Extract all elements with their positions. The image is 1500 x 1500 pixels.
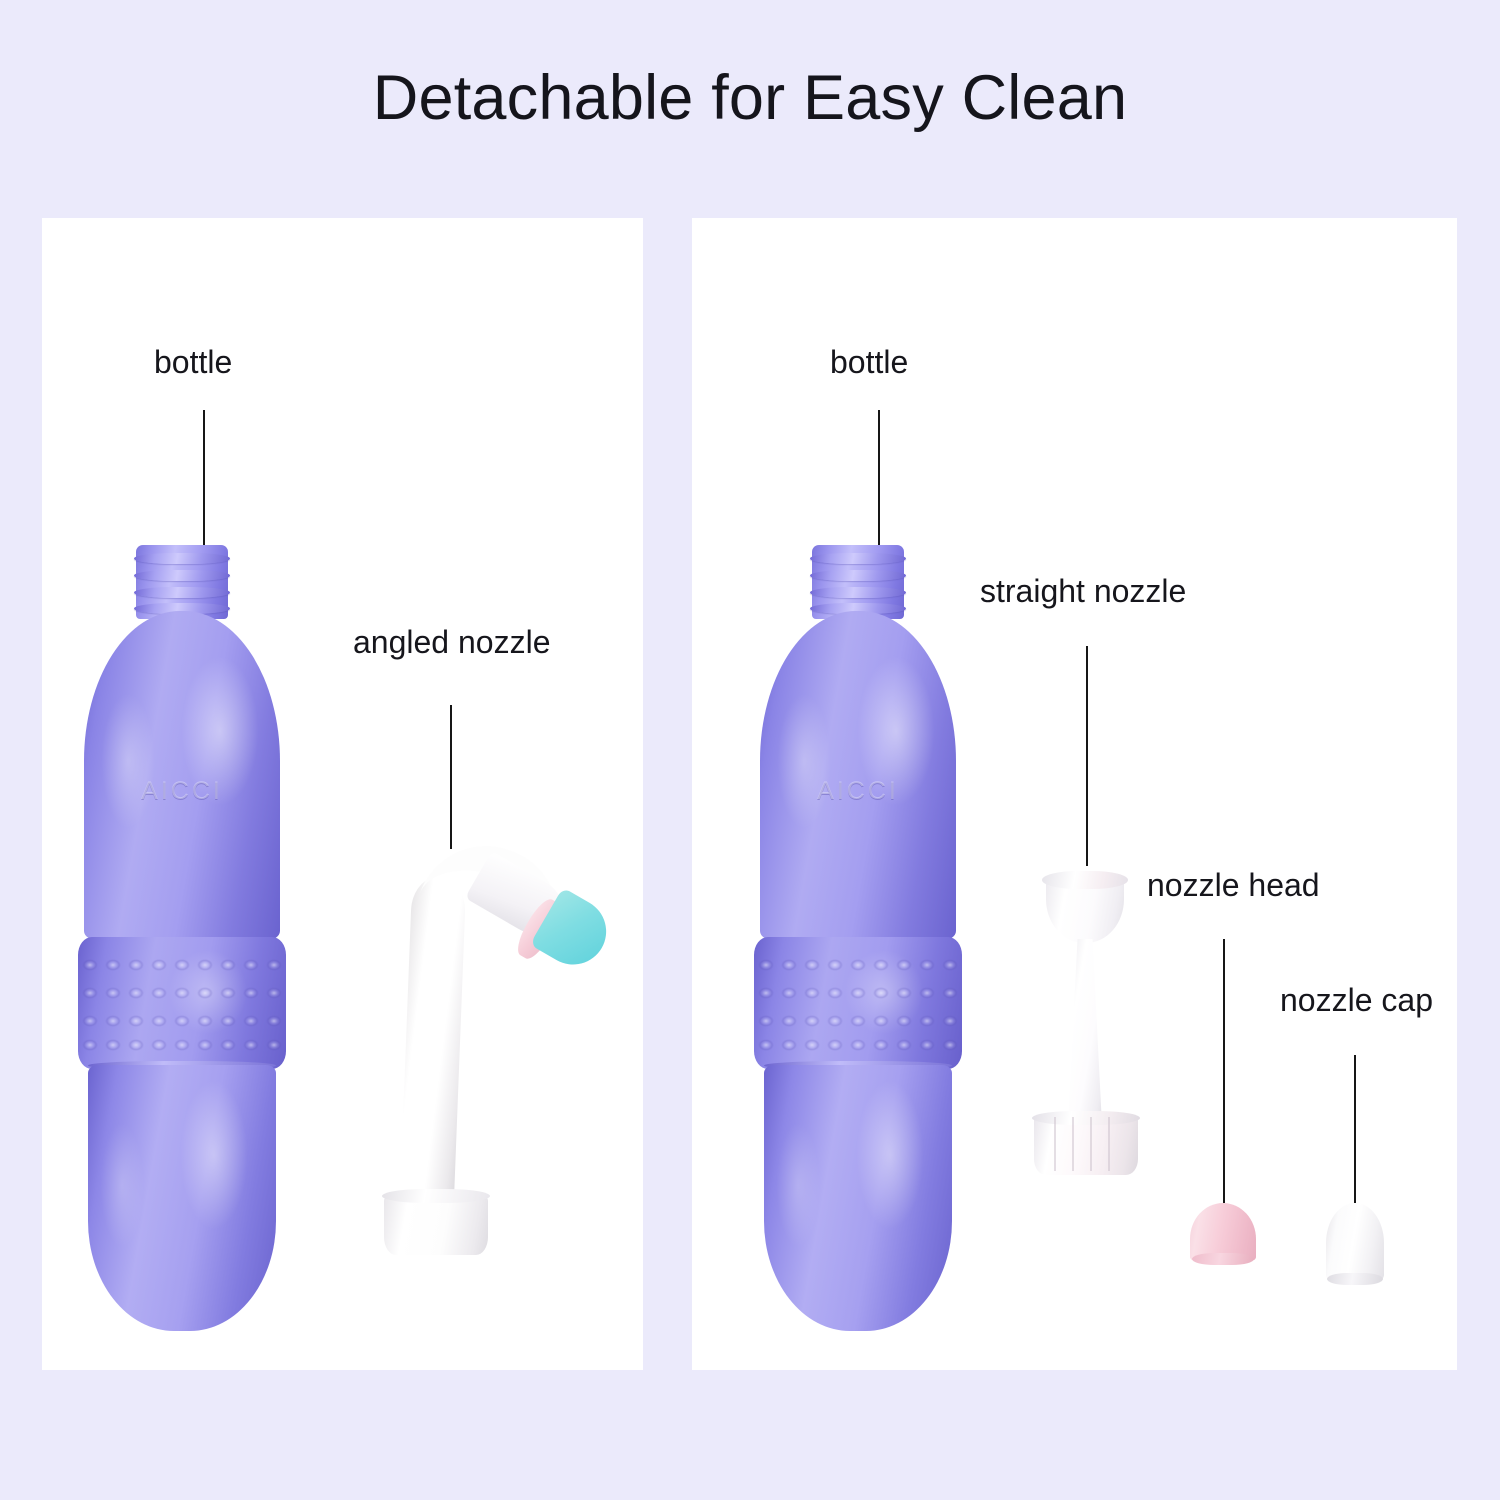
leader-line-bottle-right (878, 410, 880, 562)
straight-nozzle-rib (1108, 1117, 1110, 1171)
bottle-thread-3 (134, 587, 230, 598)
label-angled-nozzle: angled nozzle (353, 626, 550, 658)
nozzle-head-foot (1192, 1253, 1254, 1265)
bottle-shoulder (84, 611, 280, 941)
straight-nozzle-rib (1054, 1117, 1056, 1171)
straight-nozzle (1032, 865, 1142, 1185)
angled-nozzle-collar-lip (382, 1189, 490, 1203)
bottle-left: AICCI (84, 545, 280, 1331)
grip-dot-row (82, 957, 282, 974)
bottle-shoulder (760, 611, 956, 941)
label-straight-nozzle: straight nozzle (980, 575, 1186, 607)
leader-line-straight-nozzle (1086, 646, 1088, 866)
nozzle-cap-dome (1326, 1203, 1384, 1281)
label-bottle-left: bottle (154, 346, 232, 378)
straight-nozzle-base-rim (1032, 1111, 1140, 1125)
bottle-grip-band (754, 937, 962, 1069)
straight-nozzle-stem (1068, 939, 1102, 1125)
page-title: Detachable for Easy Clean (0, 64, 1500, 133)
bottle-base (764, 1065, 952, 1331)
grip-dot-row (82, 985, 282, 1002)
straight-nozzle-cup-rim (1042, 871, 1128, 889)
left-product-panel: bottle angled nozzle AICCI (42, 218, 643, 1370)
nozzle-cap-foot (1327, 1273, 1383, 1285)
leader-line-nozzle-head (1223, 939, 1225, 1203)
grip-dot-row (758, 1037, 958, 1054)
grip-dot-row (82, 1037, 282, 1054)
bottle-grip-band (78, 937, 286, 1069)
nozzle-cap (1326, 1203, 1384, 1287)
label-nozzle-head: nozzle head (1147, 869, 1320, 901)
bottle-thread-2 (810, 570, 906, 581)
right-product-panel: bottle straight nozzle nozzle head nozzl… (692, 218, 1457, 1370)
straight-nozzle-rib (1090, 1117, 1092, 1171)
bottle-thread-1 (810, 553, 906, 564)
grip-dot-row (758, 957, 958, 974)
straight-nozzle-rib (1072, 1117, 1074, 1171)
bottle-thread-3 (810, 587, 906, 598)
bottle-right: AICCI (760, 545, 956, 1331)
leader-line-bottle-left (203, 410, 205, 562)
label-bottle-right: bottle (830, 346, 908, 378)
grip-dot-row (758, 985, 958, 1002)
label-nozzle-cap: nozzle cap (1280, 984, 1433, 1016)
nozzle-head (1190, 1203, 1256, 1267)
grip-dot-row (758, 1013, 958, 1030)
leader-line-nozzle-cap (1354, 1055, 1356, 1203)
leader-line-angled-nozzle (450, 705, 452, 849)
bottle-thread-2 (134, 570, 230, 581)
bottle-base (88, 1065, 276, 1331)
bottle-thread-1 (134, 553, 230, 564)
grip-dot-row (82, 1013, 282, 1030)
angled-nozzle (380, 841, 620, 1261)
